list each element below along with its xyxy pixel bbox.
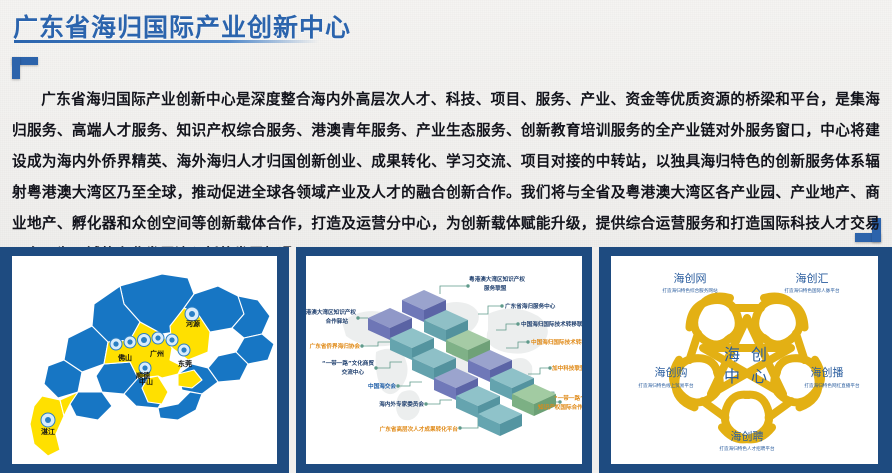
map-label-guangzhou: 广州 [150,349,164,358]
network-diagram-svg: 粤港澳大湾区知识产权 服务联盟 广东省海归服务中心 中国海归国际技术转移联盟 中… [306,256,581,464]
logo-node-0-title: 海创网 [673,271,706,285]
panel-strip: 广州 佛山 东莞 顺德 中山 河源 湛江 [0,247,892,473]
diagram-label-6: 广东省高层次人才成果转化平台 [380,425,459,433]
map-label-dongguan: 东莞 [178,359,192,368]
diagram-label-9: 中国海归国际技术转移中心 [531,338,581,346]
panel-divider-1 [289,247,296,473]
intro-paragraph: 广东省海归国际产业创新中心是深度整合海内外高层次人才、科技、项目、服务、产业、资… [12,84,880,270]
page-title: 广东省海归国际产业创新中心 [13,8,351,44]
logo-canvas: 海 创 中 心 海创网 打造海归特色综合服务网站 海创汇 打造海归特色国际人脉平… [611,256,878,464]
map-canvas: 广州 佛山 东莞 顺德 中山 河源 湛江 [12,256,277,464]
diagram-label-0-line1: 粤港澳大湾区知识产权 [469,275,525,283]
diagram-label-0-line2: 服务联盟 [484,284,507,292]
logo-center-line2: 中 心 [724,367,770,386]
logo-node-4-subtitle: 打造海归特色人才招聘平台 [719,445,775,452]
guangdong-map-svg: 广州 佛山 东莞 顺德 中山 河源 湛江 [12,256,277,464]
panel-diagram[interactable]: 粤港澳大湾区知识产权 服务联盟 广东省海归服务中心 中国海归国际技术转移联盟 中… [296,247,591,473]
diagram-label-4: 中国海交会 [368,382,396,390]
logo-node-3-title: 海创播 [810,365,843,379]
panel-logo[interactable]: 海 创 中 心 海创网 打造海归特色综合服务网站 海创汇 打造海归特色国际人脉平… [599,247,892,473]
map-label-zhongshan: 中山 [139,377,153,386]
diagram-label-3-line2: 交流中心 [342,368,365,376]
haichuang-logo-svg: 海 创 中 心 海创网 打造海归特色综合服务网站 海创汇 打造海归特色国际人脉平… [611,256,878,464]
logo-node-3-subtitle: 打造海归特色网红直播平台 [804,382,860,389]
diagram-label-11-line1: “一带一路” [554,394,581,402]
diagram-label-3-line1: “一带一路”文化商贸 [322,359,375,367]
diagram-label-5: 海内外专家委员会 [380,400,425,408]
logo-center-line1: 海 创 [724,345,770,364]
title-underline [14,40,319,43]
logo-node-2-subtitle: 打造海归特色线上贸易平台 [638,382,694,389]
diagram-canvas: 粤港澳大湾区知识产权 服务联盟 广东省海归服务中心 中国海归国际技术转移联盟 中… [306,256,581,464]
map-label-foshan: 佛山 [117,353,132,362]
diagram-label-7: 广东省海归服务中心 [505,302,556,310]
logo-node-1-subtitle: 打造海归特色国际人脉平台 [784,287,840,294]
map-label-zhanjiang: 湛江 [41,427,55,436]
diagram-label-2: 广东省侨界海归协会 [310,342,361,350]
logo-node-4-title: 海创聘 [730,429,763,443]
diagram-label-11-line2: 知识产权国际合作联盟 [538,403,581,411]
diagram-label-8: 中国海归国际技术转移联盟 [521,320,581,328]
map-label-heyuan: 河源 [186,319,200,328]
diagram-label-10: 加中科技联盟广州联络处 [551,364,581,372]
panel-map[interactable]: 广州 佛山 东莞 顺德 中山 河源 湛江 [0,247,289,473]
panel-divider-2 [592,247,599,473]
diagram-label-1-line2: 合作驿站 [326,317,349,325]
logo-node-2-title: 海创购 [654,365,687,379]
logo-node-1-title: 海创汇 [795,271,828,285]
diagram-label-1-line1: 粤港澳大湾区知识产权 [306,308,356,316]
logo-node-0-subtitle: 打造海归特色综合服务网站 [662,287,718,294]
corner-bracket-top-left [12,57,38,79]
